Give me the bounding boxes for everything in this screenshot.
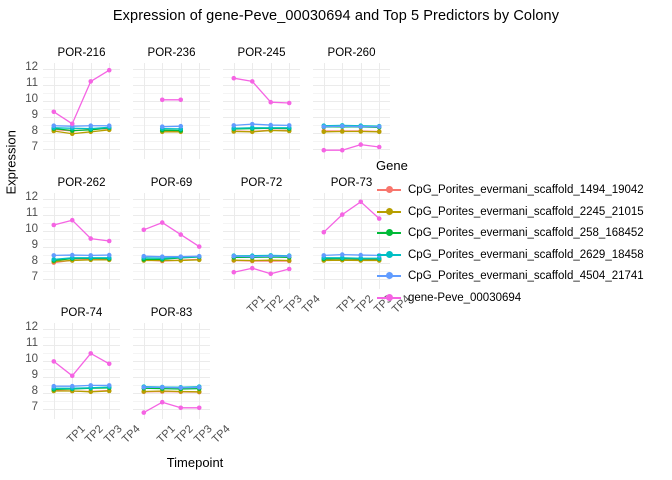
legend-item[interactable]: gene-Peve_00030694 [376, 289, 521, 307]
facet-strip-por-260: POR-260 [313, 47, 390, 59]
y-tick-label: 12 [16, 321, 38, 333]
gridline-vertical [54, 63, 55, 159]
gridline-vertical [144, 63, 145, 159]
gridline-vertical [361, 63, 362, 159]
y-tick-label: 8 [16, 255, 38, 267]
gridline-vertical [379, 63, 380, 159]
gridline-vertical [361, 193, 362, 289]
x-axis-label: Timepoint [0, 455, 390, 470]
gridline-vertical [72, 193, 73, 289]
gridline-vertical [199, 63, 200, 159]
y-tick-label: 10 [16, 353, 38, 365]
x-tick-label: TP2 [83, 423, 106, 446]
facet-strip-por-83: POR-83 [133, 307, 210, 319]
gridline-vertical [72, 323, 73, 419]
legend-item-label: CpG_Porites_evermani_scaffold_258_168452 [402, 227, 644, 239]
gridline-vertical [109, 323, 110, 419]
legend-item-label: gene-Peve_00030694 [402, 292, 521, 304]
y-tick-label: 9 [16, 239, 38, 251]
legend-item-label: CpG_Porites_evermani_scaffold_1494_19042 [402, 184, 644, 196]
y-tick-label: 7 [16, 141, 38, 153]
legend-key-swatch [376, 246, 402, 264]
gridline-vertical [181, 323, 182, 419]
y-tick-label: 8 [16, 125, 38, 137]
y-tick-label: 8 [16, 385, 38, 397]
gridline-vertical [54, 323, 55, 419]
y-tick-label: 10 [16, 223, 38, 235]
facet-strip-por-69: POR-69 [133, 177, 210, 189]
x-tick-label: TP2 [173, 423, 196, 446]
gridline-vertical [199, 193, 200, 289]
gridline-vertical [252, 63, 253, 159]
x-tick-label: TP4 [210, 423, 233, 446]
chart-title: Expression of gene-Peve_00030694 and Top… [0, 8, 672, 24]
legend-item-label: CpG_Porites_evermani_scaffold_4504_21741 [402, 270, 644, 282]
y-tick-label: 11 [16, 77, 38, 89]
legend-key-swatch [376, 203, 402, 221]
legend-item[interactable]: CpG_Porites_evermani_scaffold_2245_21015 [376, 203, 644, 221]
y-tick-label: 11 [16, 207, 38, 219]
y-tick-label: 12 [16, 61, 38, 73]
y-tick-label: 9 [16, 369, 38, 381]
legend-item[interactable]: CpG_Porites_evermani_scaffold_4504_21741 [376, 267, 644, 285]
x-tick-label: TP2 [353, 293, 376, 316]
legend-item-label: CpG_Porites_evermani_scaffold_2245_21015 [402, 206, 644, 218]
facet-strip-por-262: POR-262 [43, 177, 120, 189]
legend-key-swatch [376, 224, 402, 242]
gridline-vertical [181, 63, 182, 159]
x-tick-label: TP2 [263, 293, 286, 316]
legend-key-swatch [376, 267, 402, 285]
legend-title: Gene [376, 158, 408, 173]
y-tick-label: 7 [16, 401, 38, 413]
legend-item[interactable]: CpG_Porites_evermani_scaffold_1494_19042 [376, 181, 644, 199]
gridline-vertical [162, 63, 163, 159]
gridline-vertical [271, 63, 272, 159]
y-tick-label: 7 [16, 271, 38, 283]
gridline-vertical [342, 63, 343, 159]
gridline-vertical [199, 323, 200, 419]
gridline-vertical [109, 193, 110, 289]
gridline-vertical [91, 63, 92, 159]
y-tick-label: 11 [16, 337, 38, 349]
y-tick-label: 10 [16, 93, 38, 105]
legend-item[interactable]: CpG_Porites_evermani_scaffold_2629_18458 [376, 246, 644, 264]
gridline-vertical [144, 323, 145, 419]
gridline-vertical [289, 63, 290, 159]
y-tick-label: 12 [16, 191, 38, 203]
facet-strip-por-72: POR-72 [223, 177, 300, 189]
gridline-vertical [162, 193, 163, 289]
gridline-vertical [234, 63, 235, 159]
gridline-vertical [324, 63, 325, 159]
gridline-vertical [324, 193, 325, 289]
gridline-vertical [91, 323, 92, 419]
y-tick-label: 9 [16, 109, 38, 121]
gridline-vertical [144, 193, 145, 289]
facet-strip-por-245: POR-245 [223, 47, 300, 59]
facet-strip-por-216: POR-216 [43, 47, 120, 59]
x-tick-label: TP4 [300, 293, 323, 316]
x-axis-label-text: Timepoint [167, 455, 224, 470]
legend-item-label: CpG_Porites_evermani_scaffold_2629_18458 [402, 249, 644, 261]
gridline-vertical [271, 193, 272, 289]
legend-key-swatch [376, 181, 402, 199]
gridline-vertical [54, 193, 55, 289]
legend-item[interactable]: CpG_Porites_evermani_scaffold_258_168452 [376, 224, 644, 242]
gridline-vertical [234, 193, 235, 289]
facet-strip-por-74: POR-74 [43, 307, 120, 319]
gridline-vertical [181, 193, 182, 289]
gridline-vertical [162, 323, 163, 419]
gridline-vertical [289, 193, 290, 289]
gridline-vertical [342, 193, 343, 289]
x-tick-label: TP4 [120, 423, 143, 446]
legend-key-swatch [376, 289, 402, 307]
gridline-vertical [252, 193, 253, 289]
gridline-vertical [109, 63, 110, 159]
gridline-vertical [72, 63, 73, 159]
plot-root: Expression of gene-Peve_00030694 and Top… [0, 0, 672, 480]
gridline-vertical [91, 193, 92, 289]
facet-strip-por-236: POR-236 [133, 47, 210, 59]
y-axis-label-text: Expression [4, 130, 19, 194]
